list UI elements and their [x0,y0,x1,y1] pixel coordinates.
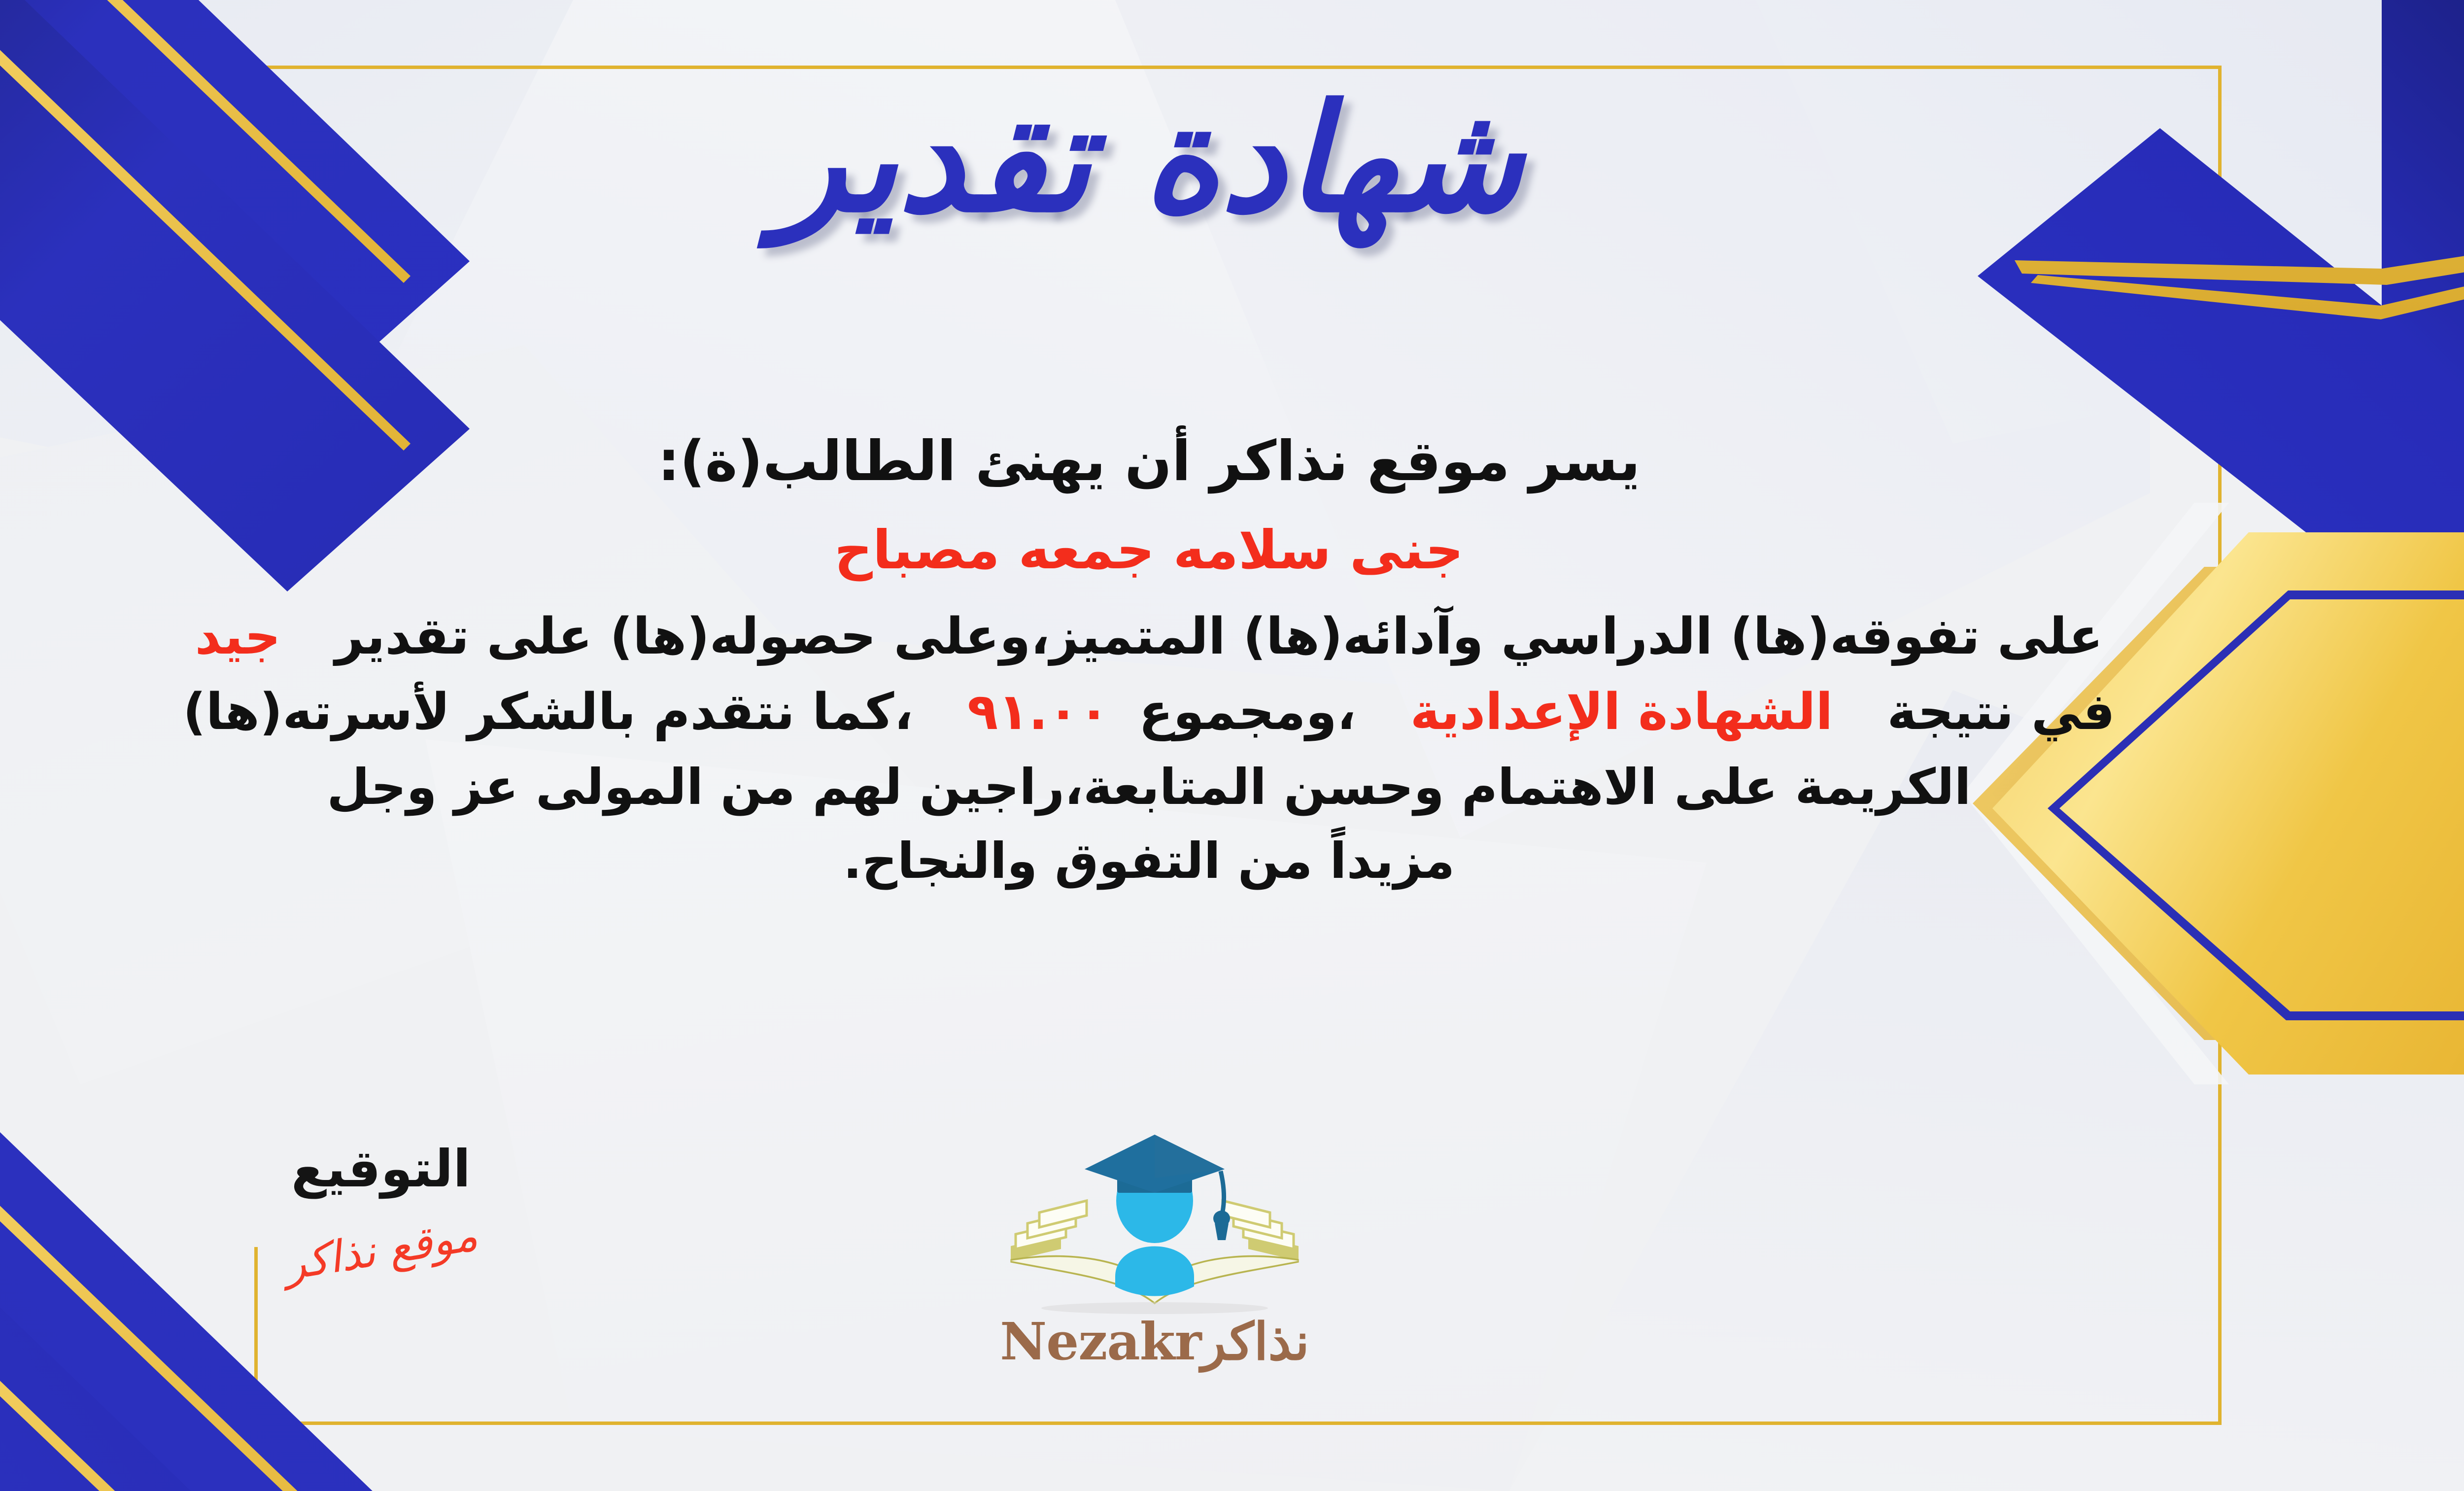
certificate-canvas: شهادة تقدير يسر موقع نذاكر أن يهنئ الطال… [0,0,2464,1491]
brand-logo-arabic: نذاكر [1201,1311,1309,1372]
thanks-text: ،كما نتقدم بالشكر لأسرته(ها) [183,683,913,741]
signature-block: التوقيع موقع نذاكر [208,1139,553,1275]
certificate-body: يسر موقع نذاكر أن يهنئ الطالب(ة): جنى سل… [0,424,2390,902]
student-name: جنى سلامه جمعه مصباح [0,520,2390,581]
exam-prefix: في نتيجة [1887,683,2115,741]
achievement-text: على تفوقه(ها) الدراسي وآدائه(ها) المتميز… [335,607,2103,666]
total-prefix: ،ومجموع [1139,683,1356,741]
closing-line: مزيداً من التفوق والنجاح. [0,828,2390,895]
family-thanks-line: الكريمة على الاهتمام وحسن المتابعة،راجين… [0,754,2390,821]
exam-result-line: في نتيجةالشهادة الإعدادية،ومجموع٩١.٠٠،كم… [0,678,2390,747]
total-score: ٩١.٠٠ [967,683,1109,741]
signature-mark: موقع نذاكر [281,1210,481,1290]
intro-line: يسر موقع نذاكر أن يهنئ الطالب(ة): [0,424,2390,499]
exam-name: الشهادة الإعدادية [1410,683,1833,741]
brand-logo-wordmark: نذاكرNezakr [958,1311,1352,1372]
achievement-line: على تفوقه(ها) الدراسي وآدائه(ها) المتميز… [0,603,2390,671]
graduate-on-open-book-icon [1002,1129,1307,1316]
grade-value: جيد [195,607,281,666]
brand-logo: نذاكرNezakr [958,1129,1352,1372]
certificate-title: شهادة تقدير [0,59,2464,259]
signature-label: التوقيع [208,1139,553,1199]
brand-logo-latin: Nezakr [1000,1311,1201,1372]
